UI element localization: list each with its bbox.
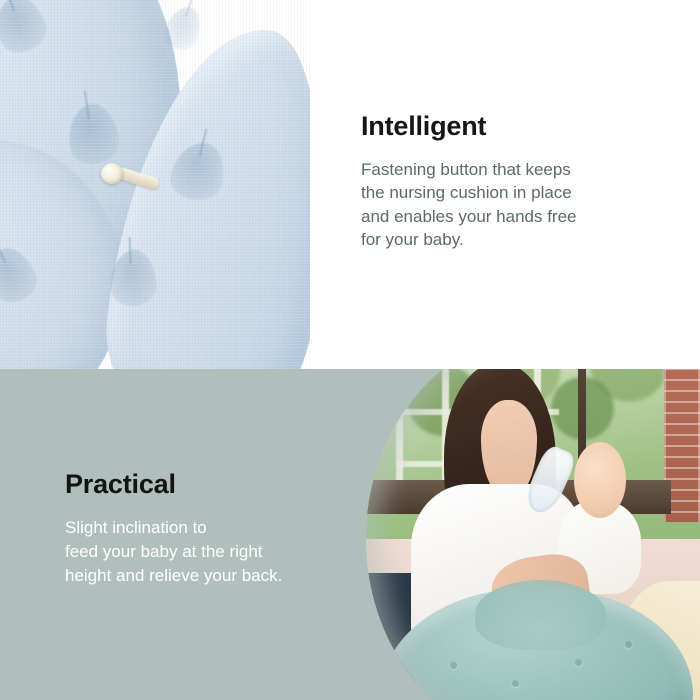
section-body-practical: Slight inclination to feed your baby at … xyxy=(65,516,355,588)
pillow-tuft xyxy=(625,641,632,648)
baby-head xyxy=(574,442,626,518)
mother-feeding-baby-photo xyxy=(366,369,700,700)
practical-text-block: Practical Slight inclination to feed you… xyxy=(65,470,355,588)
pillow-tuft xyxy=(512,680,519,687)
pillow-inner-curve xyxy=(475,580,606,650)
section-body-intelligent: Fastening button that keeps the nursing … xyxy=(361,158,661,252)
section-heading-practical: Practical xyxy=(65,470,355,500)
pillow-tuft xyxy=(450,662,457,669)
section-heading-intelligent: Intelligent xyxy=(361,112,661,142)
photo-scene xyxy=(366,369,700,700)
section-practical: Practical Slight inclination to feed you… xyxy=(0,369,700,700)
fastening-button xyxy=(101,163,123,184)
cushion-fastener-photo xyxy=(0,0,310,369)
section-intelligent: Intelligent Fastening button that keeps … xyxy=(0,0,700,369)
pillow-tuft xyxy=(575,659,582,666)
intelligent-text-block: Intelligent Fastening button that keeps … xyxy=(361,112,661,252)
product-feature-infographic: Intelligent Fastening button that keeps … xyxy=(0,0,700,700)
